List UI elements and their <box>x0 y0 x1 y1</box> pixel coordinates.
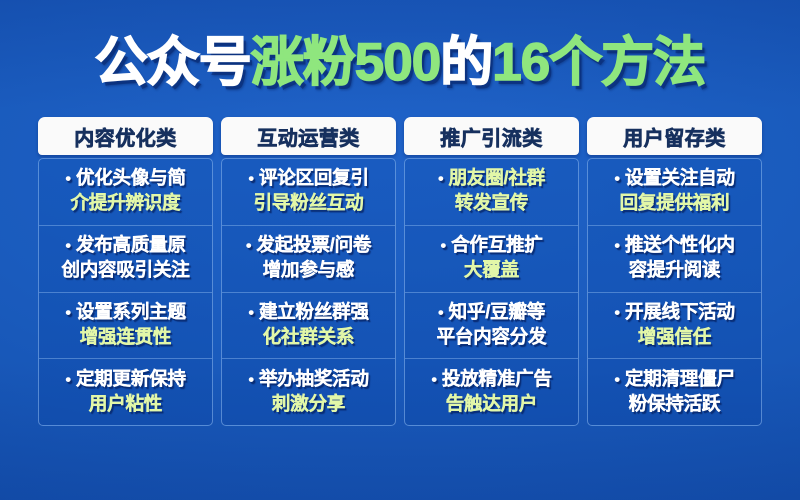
title-segment-white: 公众号 <box>95 33 251 92</box>
category-header-label: 推广引流类 <box>440 122 543 151</box>
list-item-line2: 大覆盖 <box>464 259 519 280</box>
poster-canvas: 公众号涨粉500的16个方法 内容优化类• 优化头像与简介提升辨识度• 发布高质… <box>0 0 800 500</box>
list-item-text: • 投放精准广告告触达用户 <box>431 367 552 416</box>
list-item-line1: 定期清理僵尸 <box>625 368 735 389</box>
list-item-line1: 定期更新保持 <box>76 368 186 389</box>
list-item-line2: 平台内容分发 <box>437 326 547 347</box>
list-item[interactable]: • 举办抽奖活动刺激分享 <box>222 359 395 425</box>
bullet-icon: • <box>438 169 444 188</box>
list-item-text: • 建立粉丝群强化社群关系 <box>248 300 369 349</box>
bullet-icon: • <box>65 236 71 255</box>
list-item[interactable]: • 投放精准广告告触达用户 <box>405 359 578 425</box>
list-item[interactable]: • 发起投票/问卷增加参与感 <box>222 226 395 293</box>
bullet-icon: • <box>614 236 620 255</box>
category-header-card[interactable]: 用户留存类 <box>587 117 762 155</box>
list-item-line1: 发起投票/问卷 <box>256 234 371 255</box>
list-item-line2: 化社群关系 <box>263 326 355 347</box>
list-item-line1: 推送个性化内 <box>625 234 735 255</box>
list-item-line2: 用户粘性 <box>89 393 162 414</box>
list-item[interactable]: • 开展线下活动增强信任 <box>588 293 761 360</box>
list-item-text: • 优化头像与简介提升辨识度 <box>65 166 186 215</box>
bullet-icon: • <box>440 236 446 255</box>
category-header-label: 互动运营类 <box>257 122 360 151</box>
list-item-text: • 设置关注自动回复提供福利 <box>614 166 735 215</box>
category-column: 互动运营类• 评论区回复引引导粉丝互动• 发起投票/问卷增加参与感• 建立粉丝群… <box>221 117 396 426</box>
bullet-icon: • <box>248 169 254 188</box>
list-item-text: • 设置系列主题增强连贯性 <box>65 300 186 349</box>
list-item-line2: 引导粉丝互动 <box>254 192 364 213</box>
list-item-line1: 合作互推扩 <box>451 234 543 255</box>
category-item-list: • 评论区回复引引导粉丝互动• 发起投票/问卷增加参与感• 建立粉丝群强化社群关… <box>221 158 396 426</box>
list-item[interactable]: • 推送个性化内容提升阅读 <box>588 226 761 293</box>
list-item-line2: 告触达用户 <box>446 393 538 414</box>
list-item-text: • 知乎/豆瓣等平台内容分发 <box>437 300 547 349</box>
bullet-icon: • <box>65 370 71 389</box>
list-item-line2: 容提升阅读 <box>629 259 721 280</box>
title-segment-green: 涨粉500 <box>251 33 440 92</box>
list-item-text: • 发布高质量原创内容吸引关注 <box>61 233 189 282</box>
title-segment-white: 的 <box>440 33 492 92</box>
bullet-icon: • <box>248 370 254 389</box>
bullet-icon: • <box>431 370 437 389</box>
category-header-label: 内容优化类 <box>74 122 177 151</box>
category-item-list: • 优化头像与简介提升辨识度• 发布高质量原创内容吸引关注• 设置系列主题增强连… <box>38 158 213 426</box>
list-item-text: • 举办抽奖活动刺激分享 <box>248 367 369 416</box>
list-item[interactable]: • 定期清理僵尸粉保持活跃 <box>588 359 761 425</box>
list-item-line1: 开展线下活动 <box>625 301 735 322</box>
category-item-list: • 朋友圈/社群转发宣传• 合作互推扩大覆盖• 知乎/豆瓣等平台内容分发• 投放… <box>404 158 579 426</box>
list-item[interactable]: • 发布高质量原创内容吸引关注 <box>39 226 212 293</box>
list-item-text: • 定期更新保持用户粘性 <box>65 367 186 416</box>
bullet-icon: • <box>248 303 254 322</box>
list-item-line1: 设置关注自动 <box>625 167 735 188</box>
category-header-label: 用户留存类 <box>623 122 726 151</box>
list-item-text: • 朋友圈/社群转发宣传 <box>438 166 545 215</box>
poster-title: 公众号涨粉500的16个方法 <box>0 34 800 92</box>
category-column: 内容优化类• 优化头像与简介提升辨识度• 发布高质量原创内容吸引关注• 设置系列… <box>38 117 213 426</box>
list-item[interactable]: • 朋友圈/社群转发宣传 <box>405 159 578 226</box>
list-item-line2: 转发宣传 <box>455 192 528 213</box>
list-item[interactable]: • 定期更新保持用户粘性 <box>39 359 212 425</box>
bullet-icon: • <box>246 236 252 255</box>
list-item[interactable]: • 知乎/豆瓣等平台内容分发 <box>405 293 578 360</box>
bullet-icon: • <box>614 303 620 322</box>
list-item-text: • 开展线下活动增强信任 <box>614 300 735 349</box>
list-item-line1: 投放精准广告 <box>442 368 552 389</box>
list-item-line1: 发布高质量原 <box>76 234 186 255</box>
list-item-line1: 朋友圈/社群 <box>449 167 545 188</box>
category-item-list: • 设置关注自动回复提供福利• 推送个性化内容提升阅读• 开展线下活动增强信任•… <box>587 158 762 426</box>
category-header-card[interactable]: 内容优化类 <box>38 117 213 155</box>
list-item-line2: 增加参与感 <box>263 259 355 280</box>
list-item-line2: 刺激分享 <box>272 393 345 414</box>
list-item-line1: 优化头像与简 <box>76 167 186 188</box>
list-item-line1: 知乎/豆瓣等 <box>449 301 545 322</box>
category-column: 推广引流类• 朋友圈/社群转发宣传• 合作互推扩大覆盖• 知乎/豆瓣等平台内容分… <box>404 117 579 426</box>
list-item[interactable]: • 合作互推扩大覆盖 <box>405 226 578 293</box>
list-item-line2: 介提升辨识度 <box>71 192 181 213</box>
bullet-icon: • <box>614 370 620 389</box>
category-columns: 内容优化类• 优化头像与简介提升辨识度• 发布高质量原创内容吸引关注• 设置系列… <box>38 117 762 426</box>
category-column: 用户留存类• 设置关注自动回复提供福利• 推送个性化内容提升阅读• 开展线下活动… <box>587 117 762 426</box>
list-item-line2: 增强信任 <box>638 326 711 347</box>
list-item-line1: 评论区回复引 <box>259 167 369 188</box>
list-item[interactable]: • 设置关注自动回复提供福利 <box>588 159 761 226</box>
list-item[interactable]: • 建立粉丝群强化社群关系 <box>222 293 395 360</box>
bullet-icon: • <box>65 303 71 322</box>
list-item-line2: 创内容吸引关注 <box>61 259 189 280</box>
list-item-line2: 粉保持活跃 <box>629 393 721 414</box>
bullet-icon: • <box>438 303 444 322</box>
list-item-text: • 评论区回复引引导粉丝互动 <box>248 166 369 215</box>
list-item-line1: 建立粉丝群强 <box>259 301 369 322</box>
title-segment-green: 16个方法 <box>492 33 705 92</box>
list-item-line2: 增强连贯性 <box>80 326 172 347</box>
list-item[interactable]: • 设置系列主题增强连贯性 <box>39 293 212 360</box>
list-item-text: • 发起投票/问卷增加参与感 <box>246 233 371 282</box>
category-header-card[interactable]: 推广引流类 <box>404 117 579 155</box>
list-item-line1: 设置系列主题 <box>76 301 186 322</box>
bullet-icon: • <box>614 169 620 188</box>
list-item-line1: 举办抽奖活动 <box>259 368 369 389</box>
list-item-text: • 合作互推扩大覆盖 <box>440 233 542 282</box>
list-item[interactable]: • 评论区回复引引导粉丝互动 <box>222 159 395 226</box>
bullet-icon: • <box>65 169 71 188</box>
list-item-line2: 回复提供福利 <box>620 192 730 213</box>
poster-title-text: 公众号涨粉500的16个方法 <box>95 34 705 92</box>
category-header-card[interactable]: 互动运营类 <box>221 117 396 155</box>
list-item[interactable]: • 优化头像与简介提升辨识度 <box>39 159 212 226</box>
list-item-text: • 推送个性化内容提升阅读 <box>614 233 735 282</box>
list-item-text: • 定期清理僵尸粉保持活跃 <box>614 367 735 416</box>
